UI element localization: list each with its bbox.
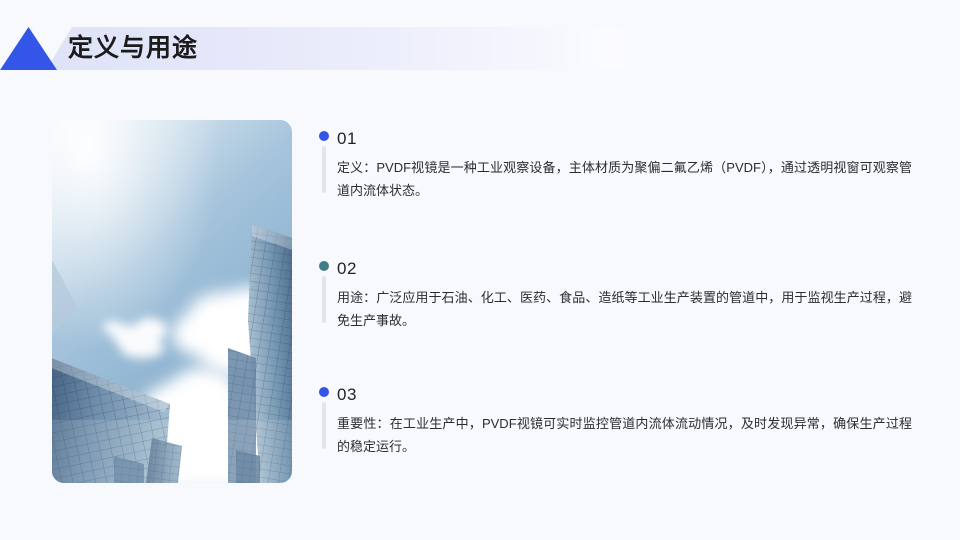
bullet-dot-icon bbox=[319, 131, 329, 141]
timeline-line bbox=[322, 146, 326, 193]
page-title: 定义与用途 bbox=[68, 27, 198, 70]
bullet-dot-icon bbox=[319, 261, 329, 271]
list-item-body: 01 定义：PVDF视镜是一种工业观察设备，主体材质为聚偏二氟乙烯（PVDF），… bbox=[337, 128, 917, 202]
list-item-number: 02 bbox=[337, 258, 917, 279]
timeline-marker bbox=[318, 258, 332, 326]
timeline-marker bbox=[318, 128, 332, 196]
list-item-number: 03 bbox=[337, 384, 917, 405]
triangle-up-icon bbox=[0, 27, 57, 70]
slide-header: 定义与用途 bbox=[0, 0, 960, 96]
list-item-number: 01 bbox=[337, 128, 917, 149]
list-item-text: 用途：广泛应用于石油、化工、医药、食品、造纸等工业生产装置的管道中，用于监视生产… bbox=[337, 286, 912, 332]
timeline-line bbox=[322, 402, 326, 449]
skyscraper-photo bbox=[52, 120, 292, 483]
list-item-text: 定义：PVDF视镜是一种工业观察设备，主体材质为聚偏二氟乙烯（PVDF），通过透… bbox=[337, 156, 912, 202]
list-item-body: 03 重要性：在工业生产中，PVDF视镜可实时监控管道内流体流动情况，及时发现异… bbox=[337, 384, 917, 458]
timeline-marker bbox=[318, 384, 332, 452]
definition-list: 01 定义：PVDF视镜是一种工业观察设备，主体材质为聚偏二氟乙烯（PVDF），… bbox=[318, 120, 918, 500]
list-item-text: 重要性：在工业生产中，PVDF视镜可实时监控管道内流体流动情况，及时发现异常，确… bbox=[337, 412, 912, 458]
list-item-body: 02 用途：广泛应用于石油、化工、医药、食品、造纸等工业生产装置的管道中，用于监… bbox=[337, 258, 917, 332]
timeline-line bbox=[322, 276, 326, 323]
bullet-dot-icon bbox=[319, 387, 329, 397]
